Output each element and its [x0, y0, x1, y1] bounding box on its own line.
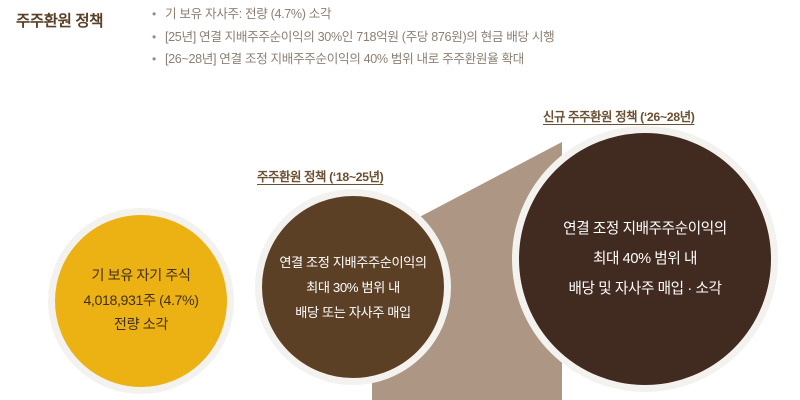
bullet-item: • [25년] 연결 지배주주순이익의 30%인 718억원 (주당 876원)…	[152, 29, 792, 45]
caption-current-policy: 주주환원 정책 (‘18~25년)	[257, 167, 383, 185]
header: 주주환원 정책 • 기 보유 자사주: 전량 (4.7%) 소각 • [25년]…	[0, 0, 800, 95]
circle-new-line-1: 연결 조정 지배주주순이익의	[563, 214, 727, 244]
bullet-text: [25년] 연결 지배주주순이익의 30%인 718억원 (주당 876원)의 …	[165, 29, 792, 45]
circle-existing-line-2: 4,018,931주 (4.7%)	[83, 289, 198, 314]
circle-current-line-1: 연결 조정 지배주주순이익의	[279, 250, 426, 275]
bullet-list: • 기 보유 자사주: 전량 (4.7%) 소각 • [25년] 연결 지배주주…	[152, 6, 792, 74]
diagram: 주주환원 정책 (‘18~25년) 신규 주주환원 정책 (‘26~28년) 기…	[0, 95, 800, 400]
circle-current-line-3: 배당 또는 자사주 매입	[295, 300, 410, 325]
circle-existing-line-3: 전량 소각	[114, 313, 168, 338]
slide-root: 주주환원 정책 • 기 보유 자사주: 전량 (4.7%) 소각 • [25년]…	[0, 0, 800, 400]
bullet-dot-icon: •	[152, 6, 165, 22]
circle-existing-line-1: 기 보유 자기 주식	[91, 264, 190, 289]
page-title: 주주환원 정책	[16, 9, 103, 31]
circle-new-policy[interactable]: 연결 조정 지배주주순이익의 최대 40% 범위 내 배당 및 자사주 매입 ·…	[512, 126, 778, 392]
bullet-item: • 기 보유 자사주: 전량 (4.7%) 소각	[152, 6, 792, 22]
circle-existing-treasury-shares[interactable]: 기 보유 자기 주식 4,018,931주 (4.7%) 전량 소각	[48, 208, 234, 394]
circle-new-line-2: 최대 40% 범위 내	[593, 244, 697, 274]
bullet-text: [26~28년] 연결 조정 지배주주순이익의 40% 범위 내로 주주환원율 …	[165, 51, 792, 67]
circle-current-line-2: 최대 30% 범위 내	[306, 275, 400, 300]
circle-new-line-3: 배당 및 자사주 매입 · 소각	[569, 274, 722, 304]
circle-current-policy[interactable]: 연결 조정 지배주주순이익의 최대 30% 범위 내 배당 또는 자사주 매입	[255, 189, 451, 385]
bullet-dot-icon: •	[152, 51, 165, 67]
bullet-item: • [26~28년] 연결 조정 지배주주순이익의 40% 범위 내로 주주환원…	[152, 51, 792, 67]
caption-new-policy: 신규 주주환원 정책 (‘26~28년)	[543, 107, 694, 125]
bullet-text: 기 보유 자사주: 전량 (4.7%) 소각	[165, 6, 792, 22]
bullet-dot-icon: •	[152, 29, 165, 45]
